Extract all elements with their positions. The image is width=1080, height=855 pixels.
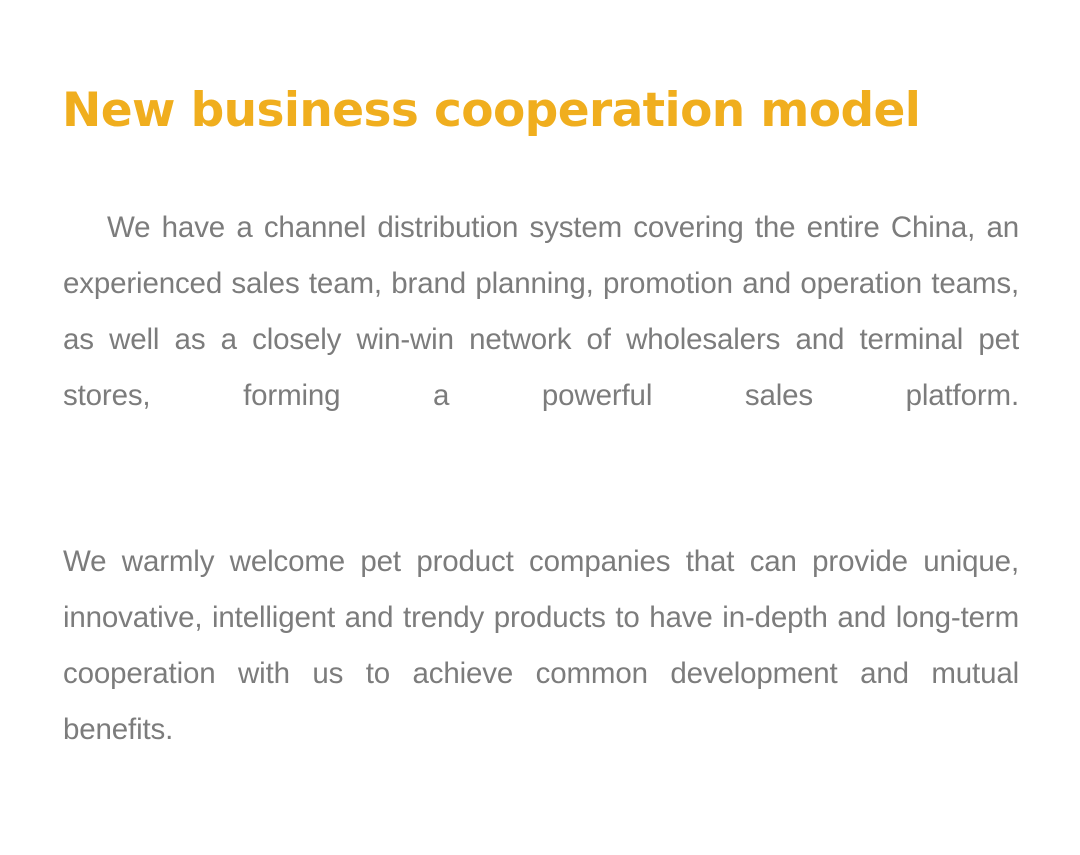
paragraph-1: We have a channel distribution system co… — [63, 200, 1019, 480]
slide-canvas: New business cooperation model We have a… — [0, 0, 1080, 855]
paragraph-2: We warmly welcome pet product companies … — [63, 534, 1019, 814]
page-title: New business cooperation model — [62, 84, 1022, 138]
body-copy: We have a channel distribution system co… — [63, 200, 1019, 814]
